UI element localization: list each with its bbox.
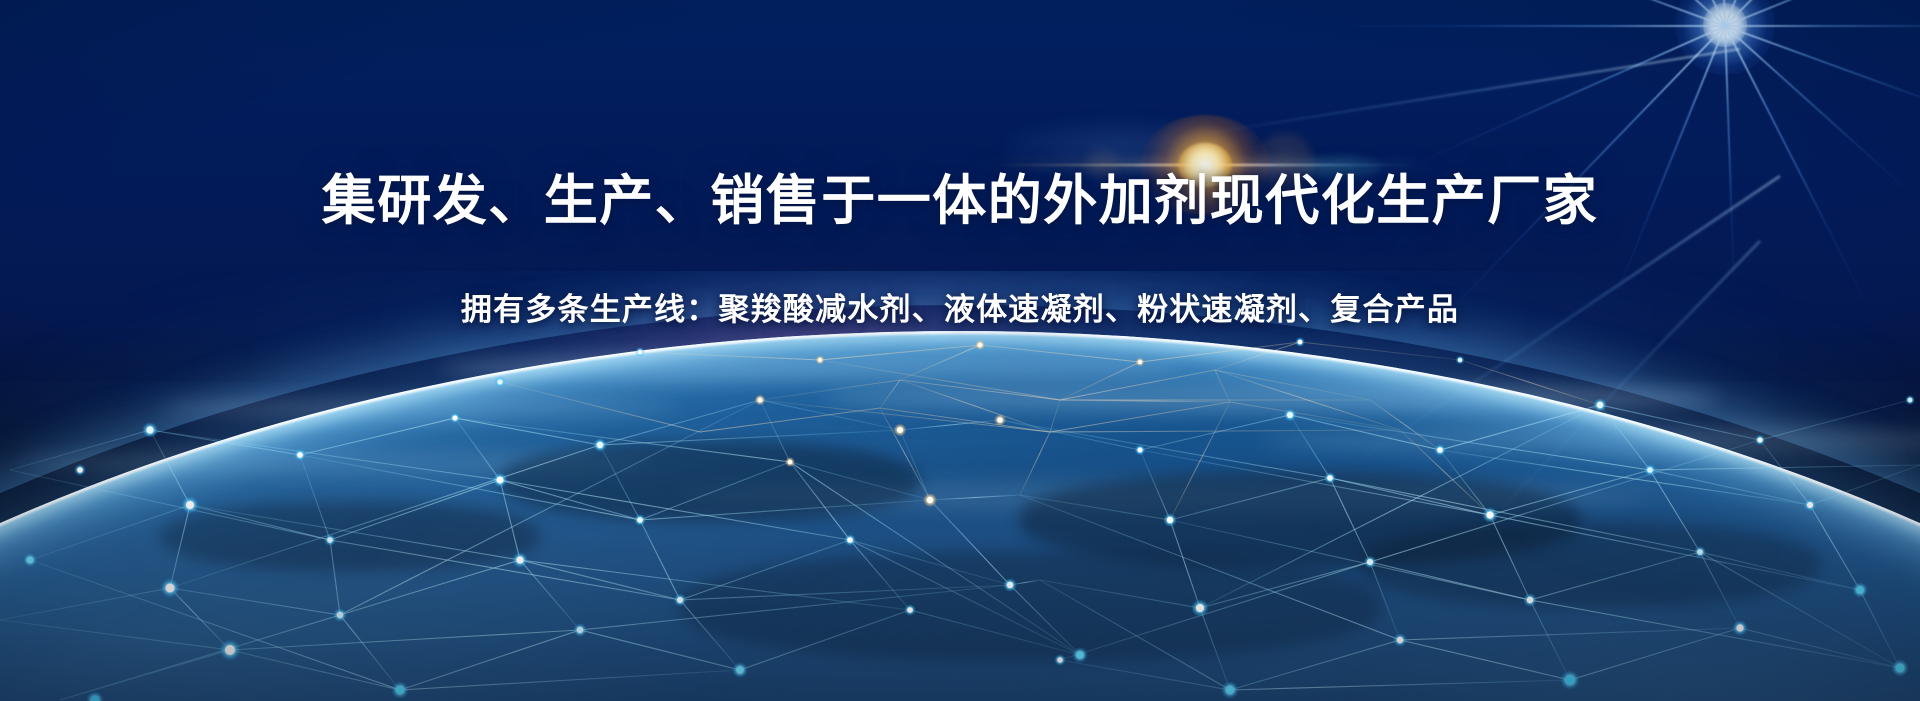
- banner-headline: 集研发、生产、销售于一体的外加剂现代化生产厂家: [322, 170, 1599, 233]
- hero-banner: 集研发、生产、销售于一体的外加剂现代化生产厂家 拥有多条生产线：聚羧酸减水剂、液…: [0, 0, 1920, 701]
- banner-text-layer: 集研发、生产、销售于一体的外加剂现代化生产厂家 拥有多条生产线：聚羧酸减水剂、液…: [0, 0, 1920, 701]
- banner-subtitle: 拥有多条生产线：聚羧酸减水剂、液体速凝剂、粉状速凝剂、复合产品: [461, 291, 1459, 328]
